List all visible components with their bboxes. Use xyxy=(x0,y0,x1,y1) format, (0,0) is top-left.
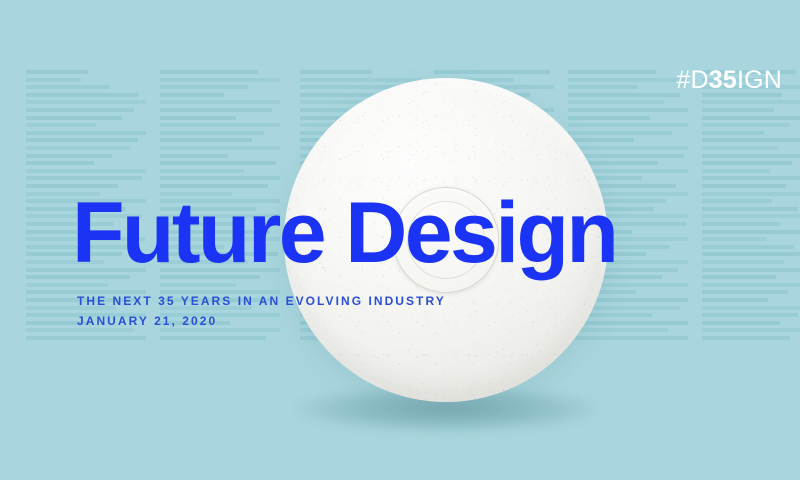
stripe xyxy=(702,146,778,150)
stripe xyxy=(702,222,780,226)
hashtag-suffix: IGN xyxy=(737,66,782,94)
stripe xyxy=(568,78,688,82)
stripe xyxy=(702,328,800,332)
stripe xyxy=(160,78,280,82)
poster-canvas: #D35IGN Future Design THE NEXT 35 YEARS … xyxy=(0,0,800,480)
stripe xyxy=(568,116,650,120)
stripe xyxy=(702,161,792,165)
stripe xyxy=(160,123,280,127)
subtitle-tagline: THE NEXT 35 YEARS IN AN EVOLVING INDUSTR… xyxy=(77,291,446,311)
stripe xyxy=(702,260,784,264)
stripe xyxy=(160,93,224,97)
stripe xyxy=(568,131,672,135)
page-title: Future Design xyxy=(72,190,616,276)
stripe xyxy=(568,93,680,97)
stripe xyxy=(160,100,280,104)
stripe xyxy=(26,123,96,127)
stripe xyxy=(160,154,228,158)
stripe xyxy=(702,237,766,241)
stripe xyxy=(702,199,772,203)
stripe xyxy=(568,85,638,89)
hashtag: #D35IGN xyxy=(676,68,782,93)
stripe xyxy=(702,283,800,287)
stripe xyxy=(702,169,770,173)
stripe xyxy=(26,336,146,340)
stripe xyxy=(300,70,372,74)
stripe xyxy=(160,85,248,89)
stripe xyxy=(160,70,258,74)
stripe xyxy=(702,336,790,340)
stripe xyxy=(702,123,790,127)
stripe xyxy=(26,161,94,165)
stripe xyxy=(568,123,688,127)
stripe xyxy=(702,100,800,104)
stripe xyxy=(160,336,266,340)
stripe xyxy=(568,138,634,142)
stripe xyxy=(702,298,768,302)
stripe xyxy=(702,176,800,180)
stripe xyxy=(160,131,264,135)
stripe xyxy=(702,154,800,158)
stripe xyxy=(568,328,668,332)
stripe xyxy=(434,70,550,74)
stripe xyxy=(702,290,788,294)
stripe xyxy=(26,93,138,97)
stripe xyxy=(568,336,688,340)
stripe xyxy=(26,176,142,180)
stripe xyxy=(26,131,146,135)
subtitle-date: JANUARY 21, 2020 xyxy=(77,311,446,331)
stripe xyxy=(26,100,146,104)
stripe xyxy=(702,108,774,112)
stripe xyxy=(160,116,236,120)
hashtag-prefix: #D xyxy=(676,66,708,94)
stripe xyxy=(568,100,664,104)
stripe xyxy=(26,70,88,74)
stripe xyxy=(702,230,800,234)
stripe xyxy=(26,116,122,120)
stripe xyxy=(702,321,780,325)
stripe xyxy=(702,313,798,317)
stripe xyxy=(702,116,800,120)
stripe xyxy=(568,321,688,325)
stripe xyxy=(160,169,244,173)
stripe xyxy=(702,138,800,142)
stripe xyxy=(702,207,798,211)
stripe xyxy=(568,146,688,150)
stripe xyxy=(26,169,146,173)
stripe xyxy=(568,108,688,112)
stripe xyxy=(702,252,800,256)
stripe xyxy=(160,146,280,150)
stripe xyxy=(160,108,272,112)
stripe xyxy=(702,192,800,196)
stripe xyxy=(26,78,81,82)
stripe xyxy=(702,245,794,249)
subtitle-block: THE NEXT 35 YEARS IN AN EVOLVING INDUSTR… xyxy=(77,291,446,331)
stripe xyxy=(160,161,276,165)
stripe xyxy=(160,138,252,142)
stripe xyxy=(568,70,656,74)
stripe xyxy=(702,131,764,135)
stripe xyxy=(26,138,138,142)
stripe xyxy=(702,268,800,272)
stripe xyxy=(702,184,786,188)
stripe xyxy=(300,78,420,82)
stripe xyxy=(26,108,134,112)
stripe xyxy=(702,306,800,310)
hashtag-highlight: 35 xyxy=(709,66,737,94)
stripe xyxy=(26,146,130,150)
stripe xyxy=(702,214,800,218)
stripe xyxy=(160,283,236,287)
stripe xyxy=(702,275,776,279)
stripe xyxy=(160,176,280,180)
stripe xyxy=(26,154,112,158)
stripe xyxy=(26,283,108,287)
stripe xyxy=(26,85,110,89)
